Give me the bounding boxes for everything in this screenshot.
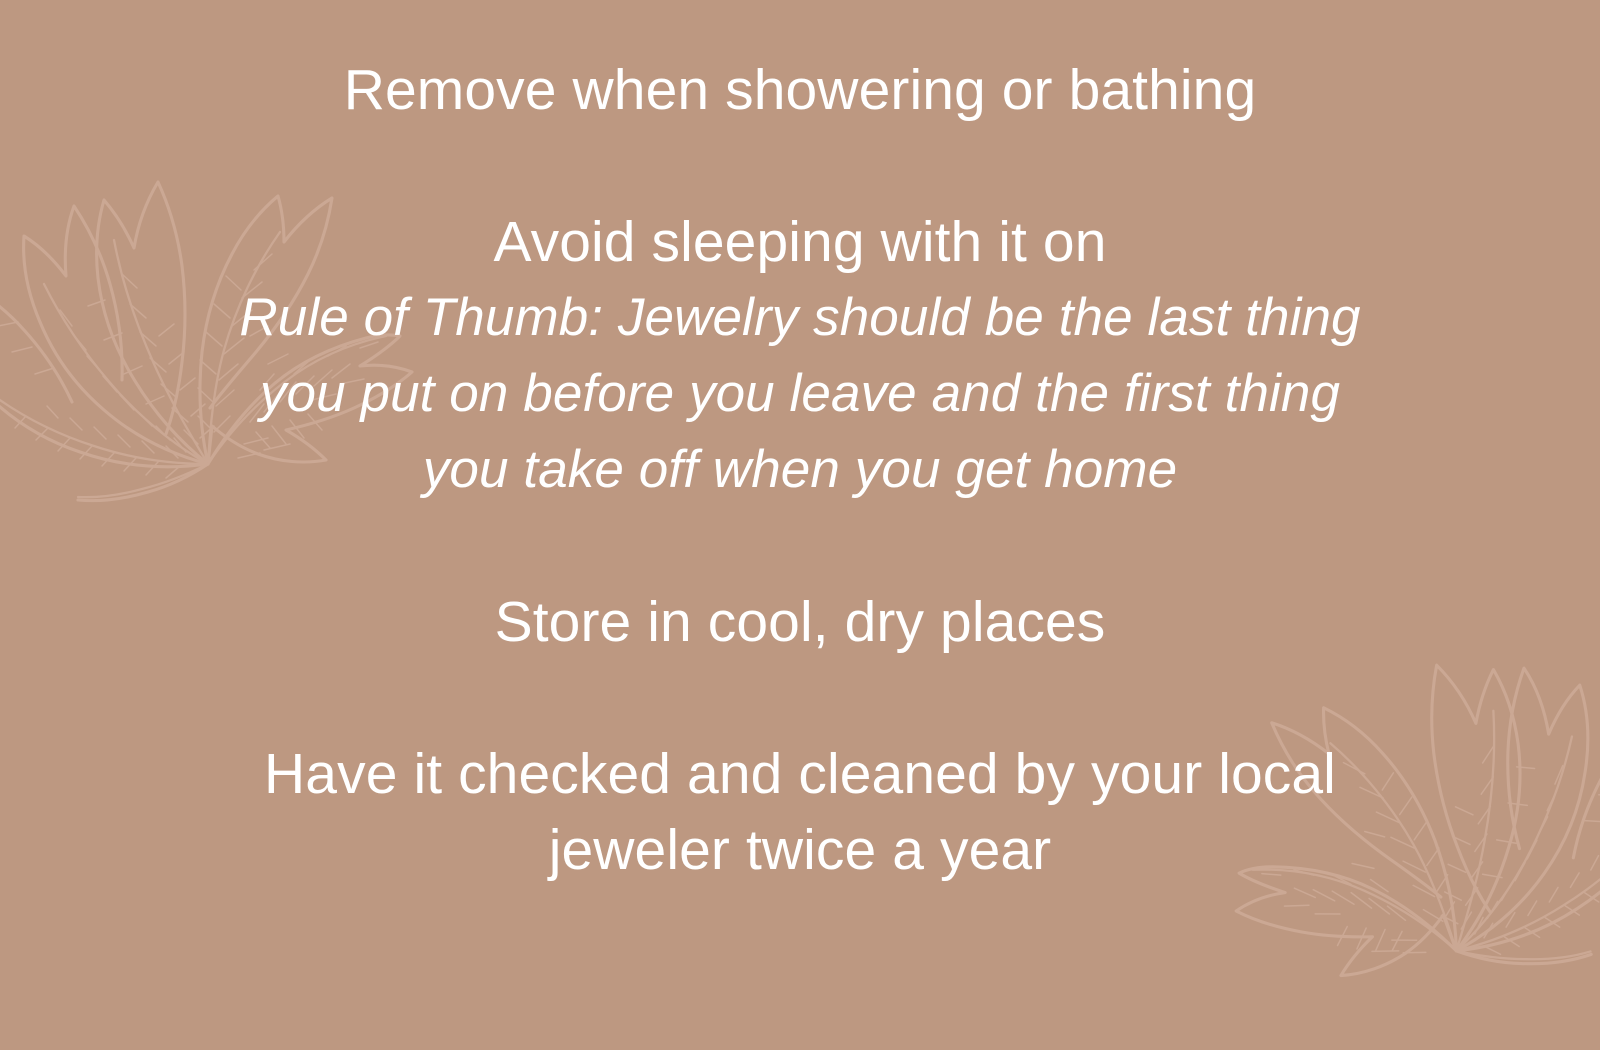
jewelry-care-slide: Remove when showering or bathing Avoid s…	[0, 0, 1600, 1050]
care-tip-3-line-1: Store in cool, dry places	[90, 584, 1510, 660]
care-tip-4: Have it checked and cleaned by your loca…	[90, 736, 1510, 888]
care-tip-2-note-line-1: Rule of Thumb: Jewelry should be the las…	[90, 280, 1510, 356]
care-tip-1: Remove when showering or bathing	[90, 52, 1510, 128]
care-tip-2: Avoid sleeping with it on Rule of Thumb:…	[90, 204, 1510, 508]
care-tip-4-line-2: jeweler twice a year	[90, 812, 1510, 888]
care-tip-2-line-1: Avoid sleeping with it on	[90, 204, 1510, 280]
care-tip-1-line-1: Remove when showering or bathing	[90, 52, 1510, 128]
care-tip-4-line-1: Have it checked and cleaned by your loca…	[90, 736, 1510, 812]
care-tip-2-note-line-2: you put on before you leave and the firs…	[90, 356, 1510, 432]
care-tips-text-stack: Remove when showering or bathing Avoid s…	[0, 0, 1600, 1050]
care-tip-2-note-line-3: you take off when you get home	[90, 432, 1510, 508]
care-tip-3: Store in cool, dry places	[90, 584, 1510, 660]
